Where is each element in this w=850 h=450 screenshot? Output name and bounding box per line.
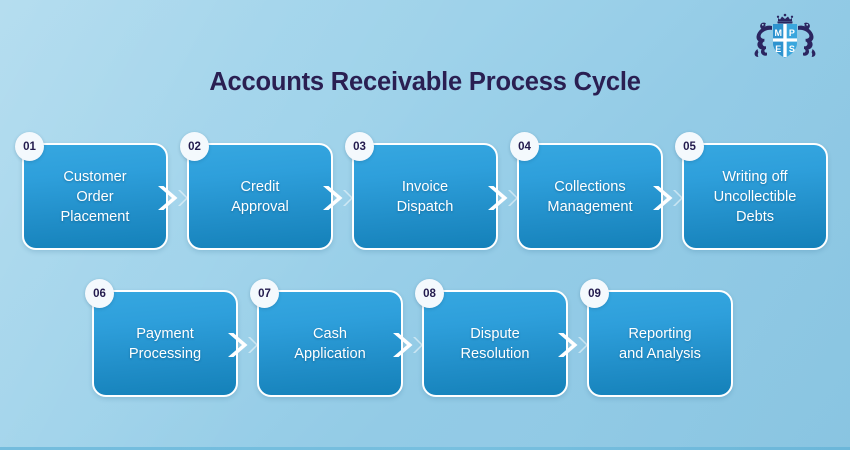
step-label: Writing off Uncollectible Debts [706, 167, 805, 227]
process-step-03[interactable]: 03Invoice Dispatch [352, 143, 498, 250]
flow-arrow-icon [157, 185, 191, 211]
step-number-badge: 08 [415, 279, 444, 308]
flow-arrow-icon [652, 185, 686, 211]
process-step-09[interactable]: 09Reporting and Analysis [587, 290, 733, 397]
step-number-badge: 07 [250, 279, 279, 308]
process-step-06[interactable]: 06Payment Processing [92, 290, 238, 397]
step-number-badge: 06 [85, 279, 114, 308]
step-label: Invoice Dispatch [389, 177, 462, 217]
logo-letter-e: E [775, 44, 781, 54]
process-step-04[interactable]: 04Collections Management [517, 143, 663, 250]
flow-arrow-icon [227, 332, 261, 358]
flow-arrow-icon [392, 332, 426, 358]
flow-arrow-icon [322, 185, 356, 211]
step-label: Dispute Resolution [453, 324, 538, 364]
logo-letter-p: P [789, 28, 795, 38]
logo-letter-m: M [774, 28, 782, 38]
step-number-badge: 03 [345, 132, 374, 161]
step-label: Credit Approval [223, 177, 297, 217]
flow-arrow-icon [487, 185, 521, 211]
step-number-badge: 04 [510, 132, 539, 161]
step-label: Reporting and Analysis [611, 324, 709, 364]
step-number-badge: 01 [15, 132, 44, 161]
infographic-canvas: M P E S Accounts Receivable Process Cycl… [0, 0, 850, 450]
page-title: Accounts Receivable Process Cycle [0, 68, 850, 97]
process-step-01[interactable]: 01Customer Order Placement [22, 143, 168, 250]
process-step-02[interactable]: 02Credit Approval [187, 143, 333, 250]
step-label: Collections Management [539, 177, 640, 217]
flow-arrow-icon [557, 332, 591, 358]
step-number-badge: 02 [180, 132, 209, 161]
step-label: Cash Application [286, 324, 373, 364]
process-step-07[interactable]: 07Cash Application [257, 290, 403, 397]
step-label: Payment Processing [121, 324, 209, 364]
mpes-crest-logo: M P E S [748, 10, 822, 62]
step-label: Customer Order Placement [53, 167, 138, 227]
step-number-badge: 05 [675, 132, 704, 161]
logo-letter-s: S [789, 44, 795, 54]
step-number-badge: 09 [580, 279, 609, 308]
process-step-08[interactable]: 08Dispute Resolution [422, 290, 568, 397]
process-step-05[interactable]: 05Writing off Uncollectible Debts [682, 143, 828, 250]
